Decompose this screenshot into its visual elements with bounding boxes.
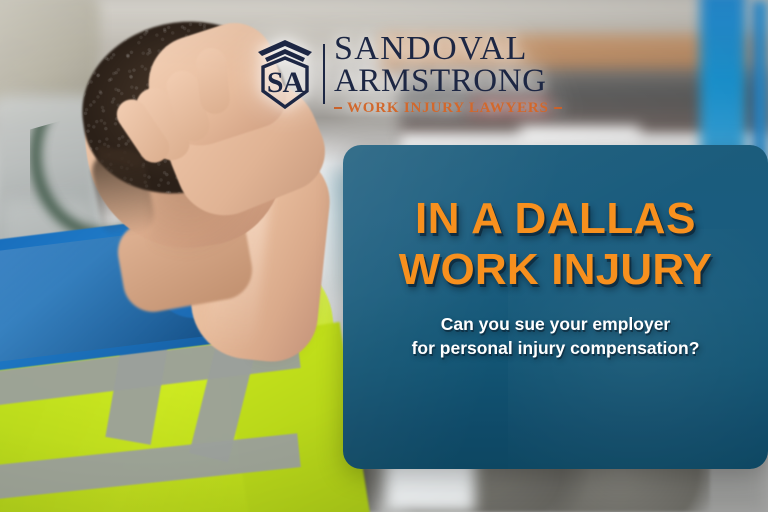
logo-divider [323,44,325,104]
message-panel: IN A DALLAS WORK INJURY Can you sue your… [343,145,768,469]
subheadline: Can you sue your employer for personal i… [412,312,700,360]
headline-line2: WORK INJURY [399,244,712,295]
shield-monogram-icon: SA [256,39,314,109]
subheadline-line2: for personal injury compensation? [412,336,700,360]
svg-text:SA: SA [267,66,305,99]
tagline-text: WORK INJURY LAWYERS [347,101,549,116]
logo-name-line2: ARMSTRONG [334,65,562,97]
tagline-dash-right [554,107,562,109]
brand-logo[interactable]: SA SANDOVAL ARMSTRONG WORK INJURY LAWYER… [256,32,562,116]
logo-wordmark: SANDOVAL ARMSTRONG WORK INJURY LAWYERS [334,32,562,116]
logo-name-line1: SANDOVAL [334,32,562,65]
tagline-dash-left [334,107,342,109]
law-firm-banner: SA SANDOVAL ARMSTRONG WORK INJURY LAWYER… [0,0,768,512]
headline-line1: IN A DALLAS [399,193,712,244]
headline: IN A DALLAS WORK INJURY [399,193,712,295]
subheadline-line1: Can you sue your employer [412,312,700,336]
logo-tagline: WORK INJURY LAWYERS [334,101,562,116]
